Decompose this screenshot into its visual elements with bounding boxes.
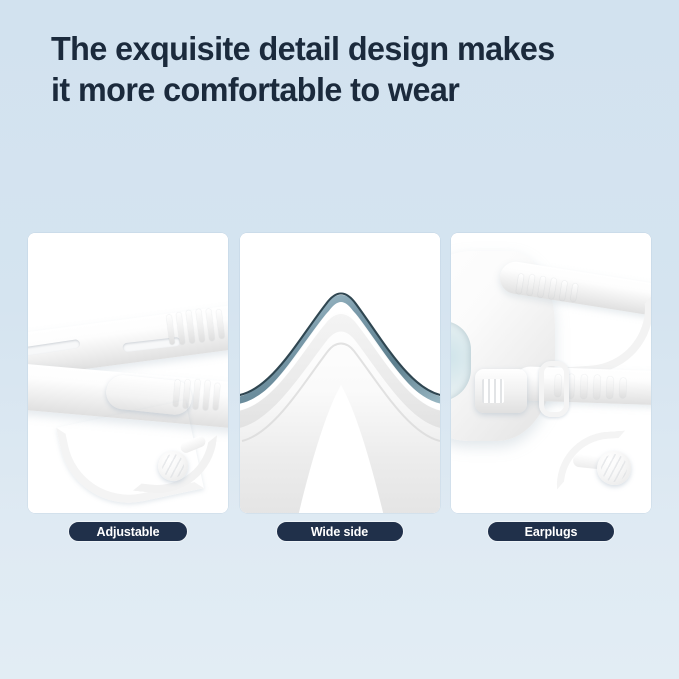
nose-bridge-arch bbox=[240, 233, 440, 513]
feature-card-row bbox=[28, 233, 651, 513]
feature-label-row: Adjustable Wide side Earplugs bbox=[28, 521, 651, 543]
product-photo-wide-side bbox=[240, 233, 440, 513]
feature-label-adjustable[interactable]: Adjustable bbox=[68, 521, 188, 542]
earplug-tip bbox=[597, 451, 631, 485]
label-slot-adjustable: Adjustable bbox=[28, 521, 228, 543]
feature-label-earplugs[interactable]: Earplugs bbox=[487, 521, 615, 542]
label-slot-earplugs: Earplugs bbox=[451, 521, 651, 543]
strap-ribs-upper bbox=[166, 305, 228, 349]
label-slot-wide-side: Wide side bbox=[240, 521, 440, 543]
buckle-grip-lines bbox=[482, 379, 504, 403]
product-photo-earplugs bbox=[451, 233, 651, 513]
product-detail-banner: The exquisite detail design makes it mor… bbox=[0, 0, 679, 679]
product-photo-adjustable bbox=[28, 233, 228, 513]
feature-card-wide-side[interactable] bbox=[240, 233, 440, 513]
feature-card-adjustable[interactable] bbox=[28, 233, 228, 513]
strap-keeper-loop bbox=[539, 361, 569, 417]
page-title: The exquisite detail design makes it mor… bbox=[51, 29, 630, 111]
strap-slot bbox=[28, 339, 81, 357]
earplug-tip bbox=[158, 451, 188, 481]
arch-graphic bbox=[240, 233, 440, 513]
feature-card-earplugs[interactable] bbox=[451, 233, 651, 513]
feature-label-wide-side[interactable]: Wide side bbox=[276, 521, 404, 542]
